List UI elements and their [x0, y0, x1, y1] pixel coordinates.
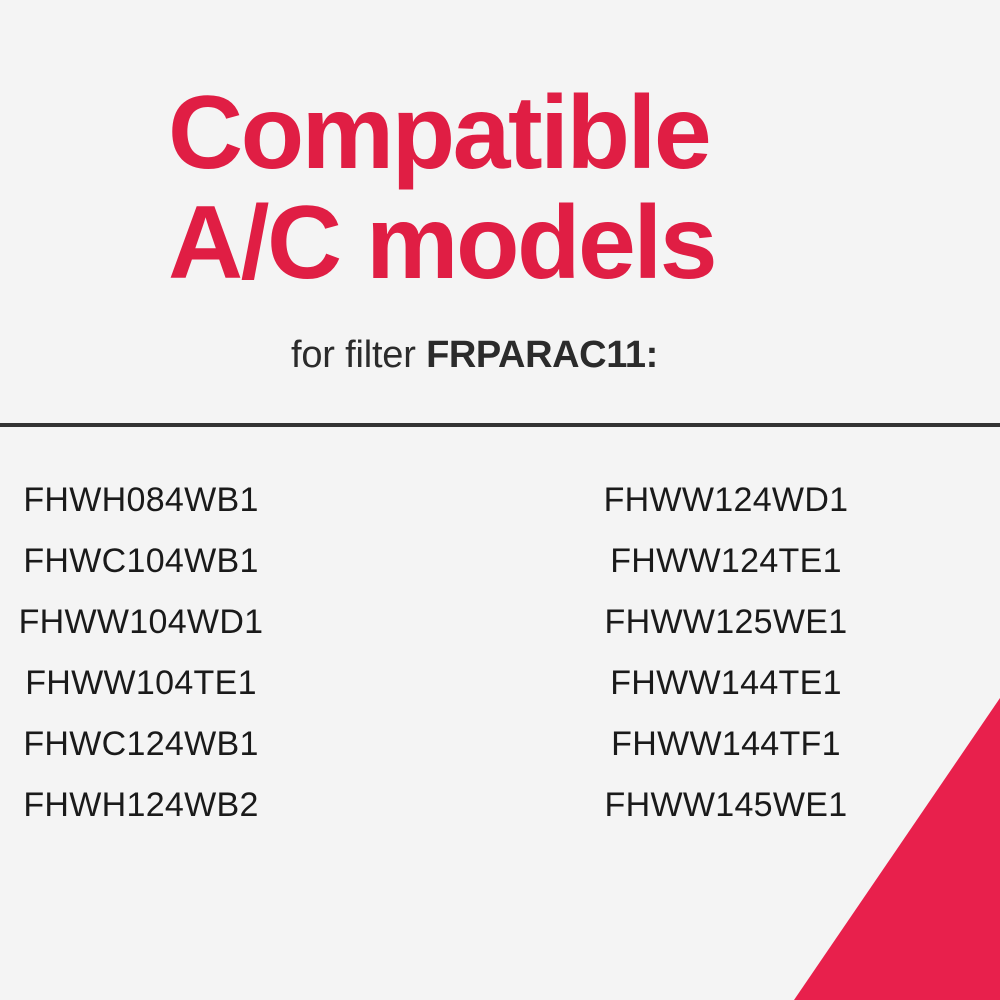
model-column-left: FHWH084WB1 FHWC104WB1 FHWW104WD1 FHWW104…: [0, 470, 500, 836]
model-item: FHWW125WE1: [500, 592, 1000, 653]
title-line-1: Compatible: [168, 78, 928, 188]
model-item: FHWW104WD1: [0, 592, 500, 653]
title-line-2: A/C models: [168, 188, 928, 298]
model-item: FHWH124WB2: [0, 775, 500, 836]
subtitle: for filter FRPARAC11:: [291, 331, 658, 379]
subtitle-prefix: for filter: [291, 334, 426, 376]
model-item: FHWC124WB1: [0, 714, 500, 775]
model-item: FHWW104TE1: [0, 653, 500, 714]
model-item: FHWC104WB1: [0, 531, 500, 592]
model-item: FHWW124TE1: [500, 531, 1000, 592]
red-corner-triangle-decoration: [794, 698, 1000, 1000]
horizontal-divider: [0, 423, 1000, 427]
subtitle-filter-model: FRPARAC11:: [426, 334, 658, 376]
header-block: Compatible A/C models: [168, 78, 928, 298]
model-item: FHWH084WB1: [0, 470, 500, 531]
compatible-models-graphic: Compatible A/C models for filter FRPARAC…: [0, 0, 1000, 1000]
model-item: FHWW124WD1: [500, 470, 1000, 531]
